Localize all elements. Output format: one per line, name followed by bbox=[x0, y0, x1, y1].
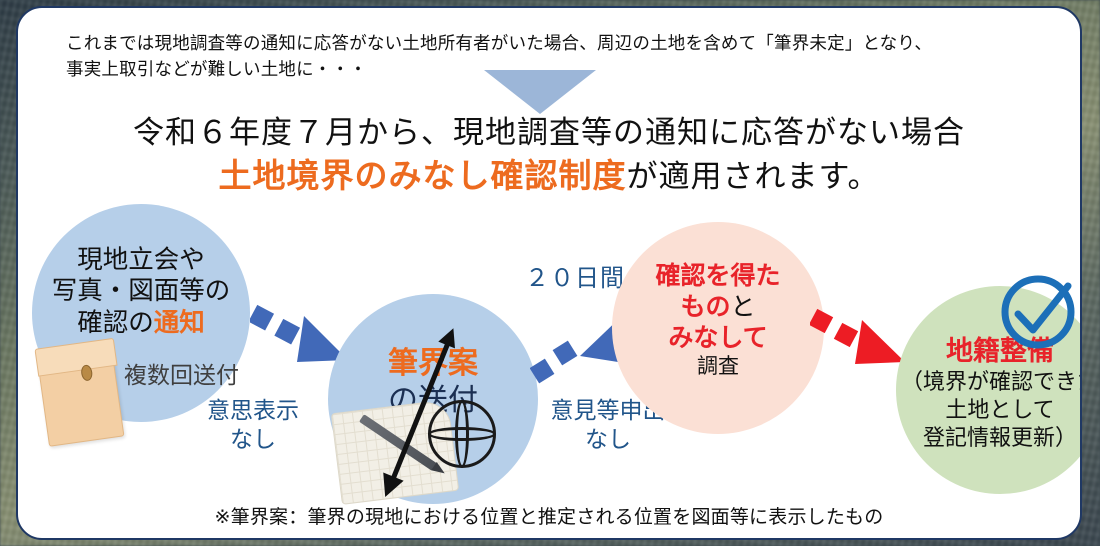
step-cadastral-line-3: 登記情報更新） bbox=[901, 424, 1082, 452]
headline-line-1: 令和６年度７月から、現地調査等の通知に応答がない場合 bbox=[18, 113, 1080, 154]
step-deemed-line-2: ものと bbox=[655, 292, 780, 323]
globe-icon bbox=[428, 400, 496, 468]
step-circle-deemed[interactable]: 確認を得た ものと みなして 調査 bbox=[612, 222, 824, 434]
label-intent-none: 意思表示 なし bbox=[168, 396, 338, 454]
step-cadastral-line-2: 土地として bbox=[901, 396, 1082, 424]
content-card: これまでは現地調査等の通知に応答がない土地所有者がいた場合、周辺の土地を含めて「… bbox=[16, 6, 1082, 540]
step-notice-line-3-plain: 確認の bbox=[77, 309, 154, 337]
headline-line-2-rest: が適用されます。 bbox=[627, 159, 880, 194]
step-deemed-text: 確認を得た ものと みなして 調査 bbox=[655, 261, 780, 380]
check-circle-icon bbox=[996, 270, 1080, 354]
step-deemed-line-1: 確認を得た bbox=[655, 261, 780, 292]
step-cadastral-line-1: （境界が確認できた bbox=[901, 368, 1082, 396]
step-deemed-line-3: みなして bbox=[655, 323, 780, 354]
step-notice-line-1: 現地立会や bbox=[52, 245, 231, 277]
step-deemed-line-2-red: もの bbox=[680, 293, 730, 321]
step-notice-caption: 複数回送付 bbox=[124, 356, 239, 390]
step-deemed-line-4: 調査 bbox=[655, 354, 780, 380]
step-notice-line-2: 写真・図面等の bbox=[52, 276, 231, 308]
down-triangle-icon bbox=[484, 70, 596, 114]
envelope-icon bbox=[36, 339, 125, 447]
footnote: ※筆界案：筆界の現地における位置と推定される位置を図面等に表示したもの bbox=[18, 502, 1080, 529]
headline-line-2: 土地境界のみなし確認制度が適用されます。 bbox=[18, 154, 1080, 198]
step-notice-line-3: 確認の通知 bbox=[52, 308, 231, 340]
step-notice-line-3-highlight: 通知 bbox=[154, 309, 205, 337]
step-notice-text: 現地立会や 写真・図面等の 確認の通知 bbox=[52, 245, 231, 340]
infographic-stage: これまでは現地調査等の通知に応答がない土地所有者がいた場合、周辺の土地を含めて「… bbox=[0, 0, 1100, 546]
headline-highlight: 土地境界のみなし確認制度 bbox=[219, 157, 627, 194]
step-deemed-line-2-black: と bbox=[730, 293, 755, 321]
headline: 令和６年度７月から、現地調査等の通知に応答がない場合 土地境界のみなし確認制度が… bbox=[18, 113, 1080, 198]
